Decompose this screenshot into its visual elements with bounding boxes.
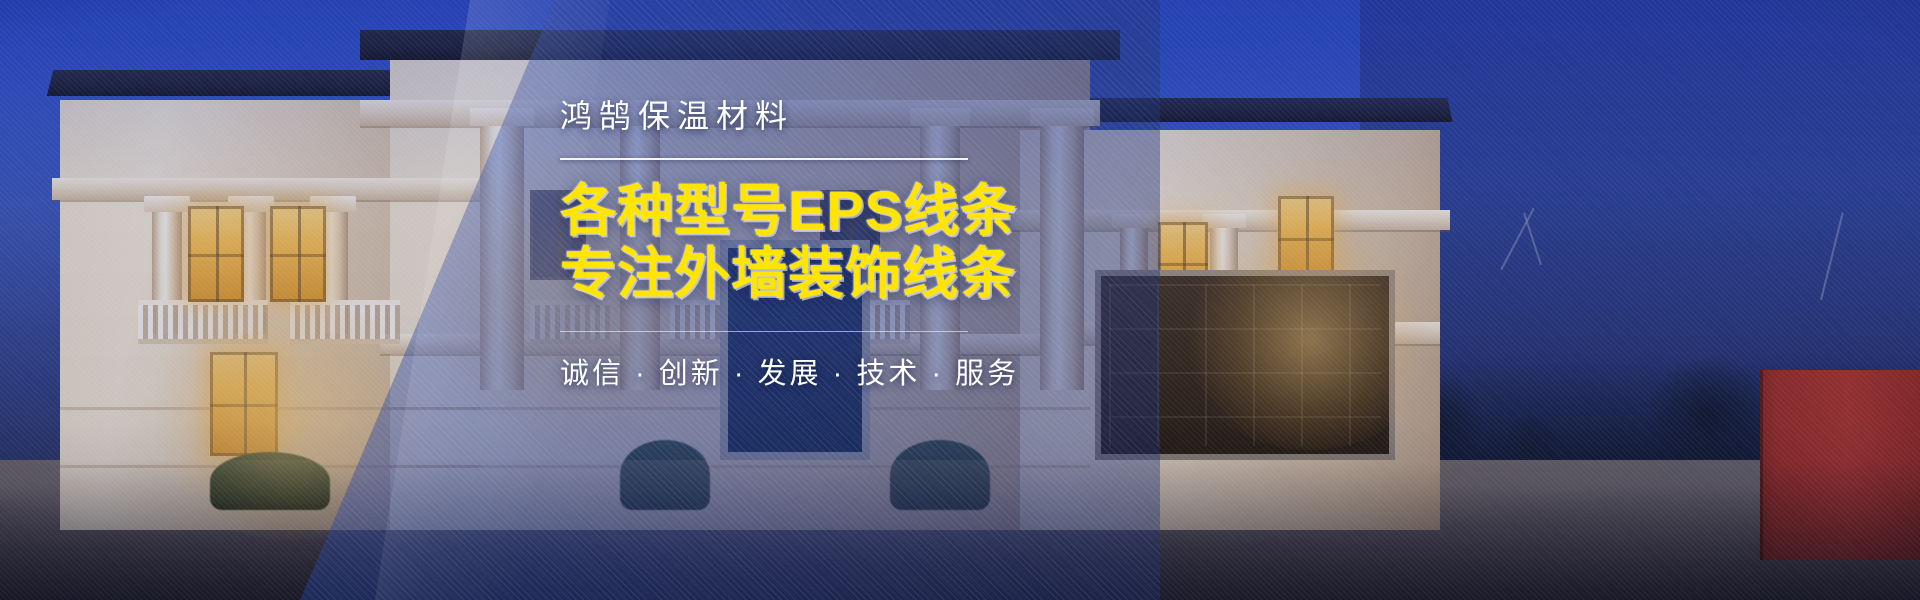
column-capital xyxy=(144,196,190,212)
window-lit xyxy=(270,206,326,302)
headline-line-1: 各种型号EPS线条 xyxy=(560,180,1030,243)
window-lit xyxy=(188,206,244,302)
cornice-left xyxy=(52,178,500,200)
tagline: 诚信 · 创新 · 发展 · 技术 · 服务 xyxy=(560,350,1030,392)
column-capital xyxy=(1202,214,1246,228)
divider-top xyxy=(560,158,968,160)
banner-content: 鸿鹄保温材料 各种型号EPS线条 专注外墙装饰线条 诚信 · 创新 · 发展 ·… xyxy=(560,96,1030,392)
balustrade xyxy=(138,300,268,344)
divider-bottom xyxy=(560,331,968,332)
window-lit xyxy=(1278,196,1334,280)
window-lit xyxy=(210,352,278,456)
brand-eyebrow: 鸿鹄保温材料 xyxy=(560,96,1030,136)
balustrade xyxy=(290,300,400,344)
hero-banner: 鸿鹄保温材料 各种型号EPS线条 专注外墙装饰线条 诚信 · 创新 · 发展 ·… xyxy=(0,0,1920,600)
headline-line-2: 专注外墙装饰线条 xyxy=(560,243,1030,306)
